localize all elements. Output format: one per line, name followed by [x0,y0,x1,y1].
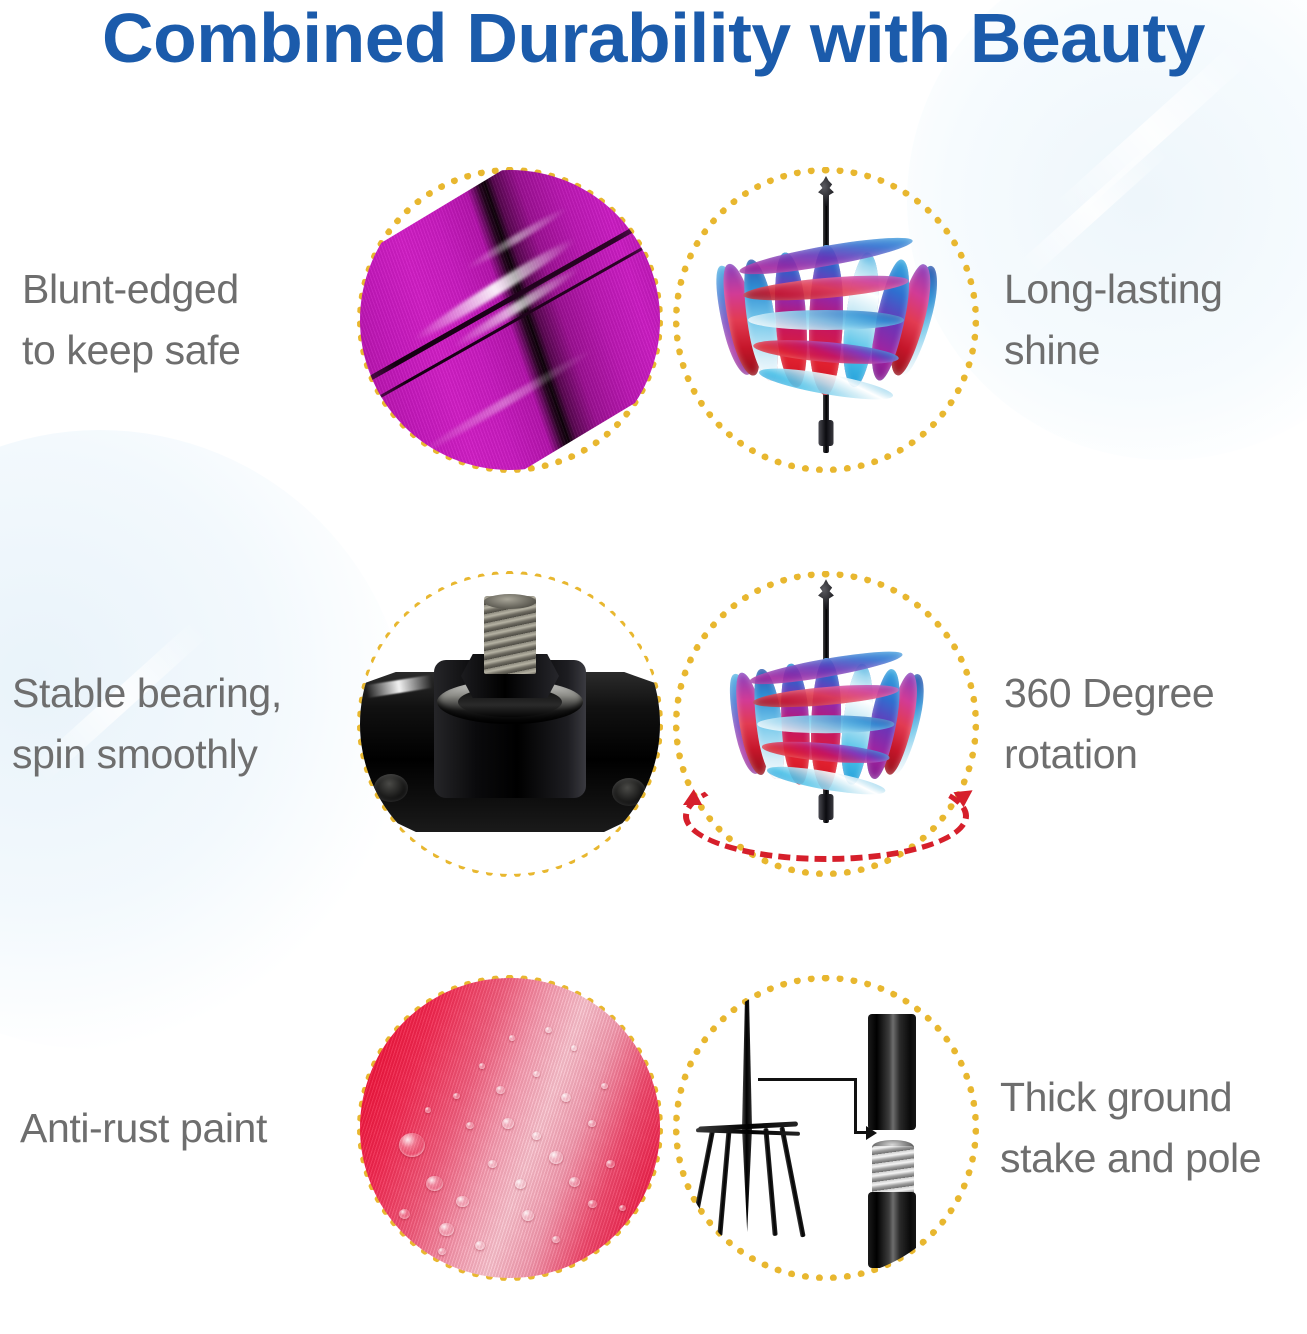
ground-stake-and-pole-photo [676,978,976,1278]
caption-line: rotation [1004,724,1306,785]
caption-line: spin smoothly [12,724,352,785]
caption-line: Long-lasting [1004,259,1306,320]
page-title: Combined Durability with Beauty [0,0,1307,78]
water-droplet [571,1045,577,1051]
water-droplet [425,1107,431,1113]
leader-line-vertical [854,1078,857,1134]
caption-line: to keep safe [22,320,352,381]
media-purple-blade-closeup-photo [352,118,668,522]
stake-spike-icon [742,996,752,1232]
feature-row-blunt-edge: Blunt-edged to keep safe [0,118,1307,522]
wind-spinner-rotation-diagram [676,574,976,874]
caption-line: Blunt-edged [22,259,352,320]
water-droplet [522,1210,534,1221]
media-wind-spinner-sphere-photo [668,118,984,522]
caption-thick-ground-stake: Thick ground stake and pole [984,1067,1306,1188]
colorful-wind-spinner-sphere-photo [676,170,976,470]
caption-long-lasting-shine: Long-lasting shine [984,259,1306,380]
pole-threaded-connector [872,1146,914,1196]
caption-line: stake and pole [1000,1128,1306,1189]
pole-upper-section [868,1014,916,1130]
ball-bearing-assembly-photo [360,574,660,874]
water-droplet [439,1223,454,1237]
caption-line: 360 Degree [1004,663,1306,724]
feature-rows: Blunt-edged to keep safe [0,118,1307,1330]
pole-lower-section [868,1192,916,1268]
feature-row-anti-rust: Anti-rust paint [0,926,1307,1330]
water-droplet [399,1133,425,1157]
water-droplet [545,1027,552,1033]
water-droplet [399,1209,410,1219]
spinner-blade [748,310,904,330]
caption-360-degree-rotation: 360 Degree rotation [984,663,1306,784]
caption-stable-bearing: Stable bearing, spin smoothly [0,663,352,784]
water-droplet [606,1160,615,1168]
water-droplet [426,1176,443,1192]
leader-line-horizontal [758,1078,856,1081]
water-droplet [549,1151,563,1164]
water-droplet [502,1118,514,1129]
caption-anti-rust-paint: Anti-rust paint [0,1098,352,1159]
red-paint-water-droplets-photo [360,978,660,1278]
caption-line: Anti-rust paint [20,1098,352,1159]
media-ball-bearing-photo [352,522,668,926]
spinner-blade [757,715,894,733]
water-droplet [588,1200,597,1208]
media-rotation-diagram [668,522,984,926]
purple-blade-closeup-photo [360,170,660,470]
caption-line: shine [1004,320,1306,381]
caption-blunt-edged: Blunt-edged to keep safe [0,259,352,380]
water-droplet [532,1132,541,1140]
water-droplet [601,1083,608,1089]
water-droplet [479,1063,485,1069]
water-droplet [456,1196,469,1208]
feature-row-stable-bearing: Stable bearing, spin smoothly [0,522,1307,926]
caption-line: Stable bearing, [12,663,352,724]
water-droplet [488,1160,497,1168]
water-droplet [569,1177,580,1187]
media-red-paint-photo [352,926,668,1330]
water-droplet [533,1071,540,1077]
leader-arrow-head [866,1126,877,1140]
water-droplet [453,1093,460,1099]
water-droplet [515,1179,526,1189]
spinner-blade-sphere [676,170,976,470]
water-droplet [509,1035,515,1041]
water-droplet [496,1086,505,1094]
media-ground-stake-photo [668,926,984,1330]
caption-line: Thick ground [1000,1067,1306,1128]
water-droplet [619,1205,626,1211]
